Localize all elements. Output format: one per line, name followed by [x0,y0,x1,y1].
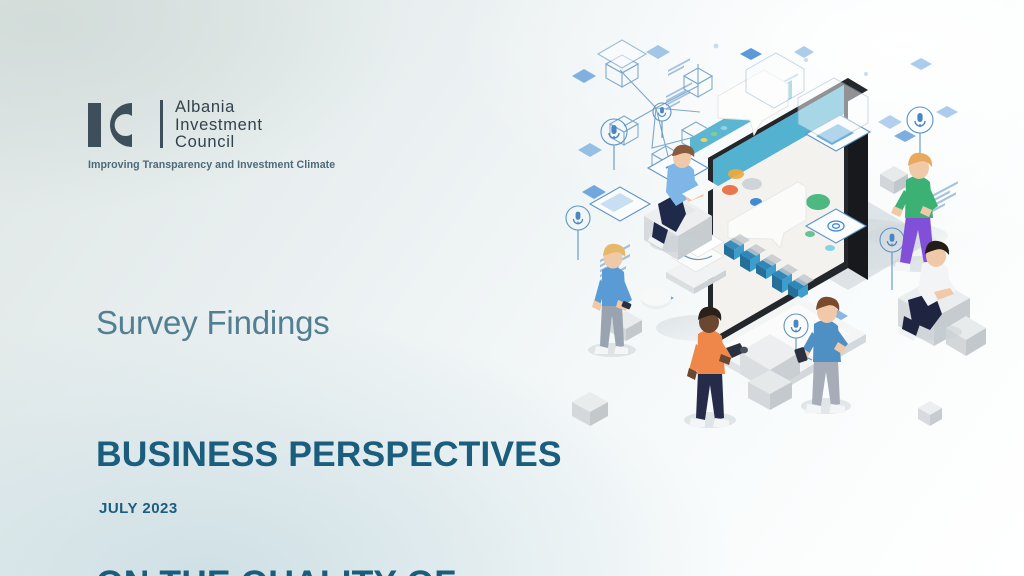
organization-logo: Albania Investment Council Improving Tra… [88,98,335,171]
eyebrow-text: Survey Findings [96,303,716,343]
headline-line-2: ON THE QUALITY OF [96,562,716,576]
logo-row: Albania Investment Council [88,98,335,152]
logo-tagline: Improving Transparency and Investment Cl… [88,159,335,171]
page-title: BUSINESS PERSPECTIVES ON THE QUALITY OF … [96,347,716,576]
ic-monogram-icon [88,99,150,151]
headline-line-1: BUSINESS PERSPECTIVES [96,433,716,476]
logo-organization-name: Albania Investment Council [175,98,263,152]
publication-date: JULY 2023 [99,500,178,517]
logo-divider [160,100,163,148]
title-block: Survey Findings BUSINESS PERSPECTIVES ON… [96,303,716,576]
title-slide: Albania Investment Council Improving Tra… [0,0,1024,576]
